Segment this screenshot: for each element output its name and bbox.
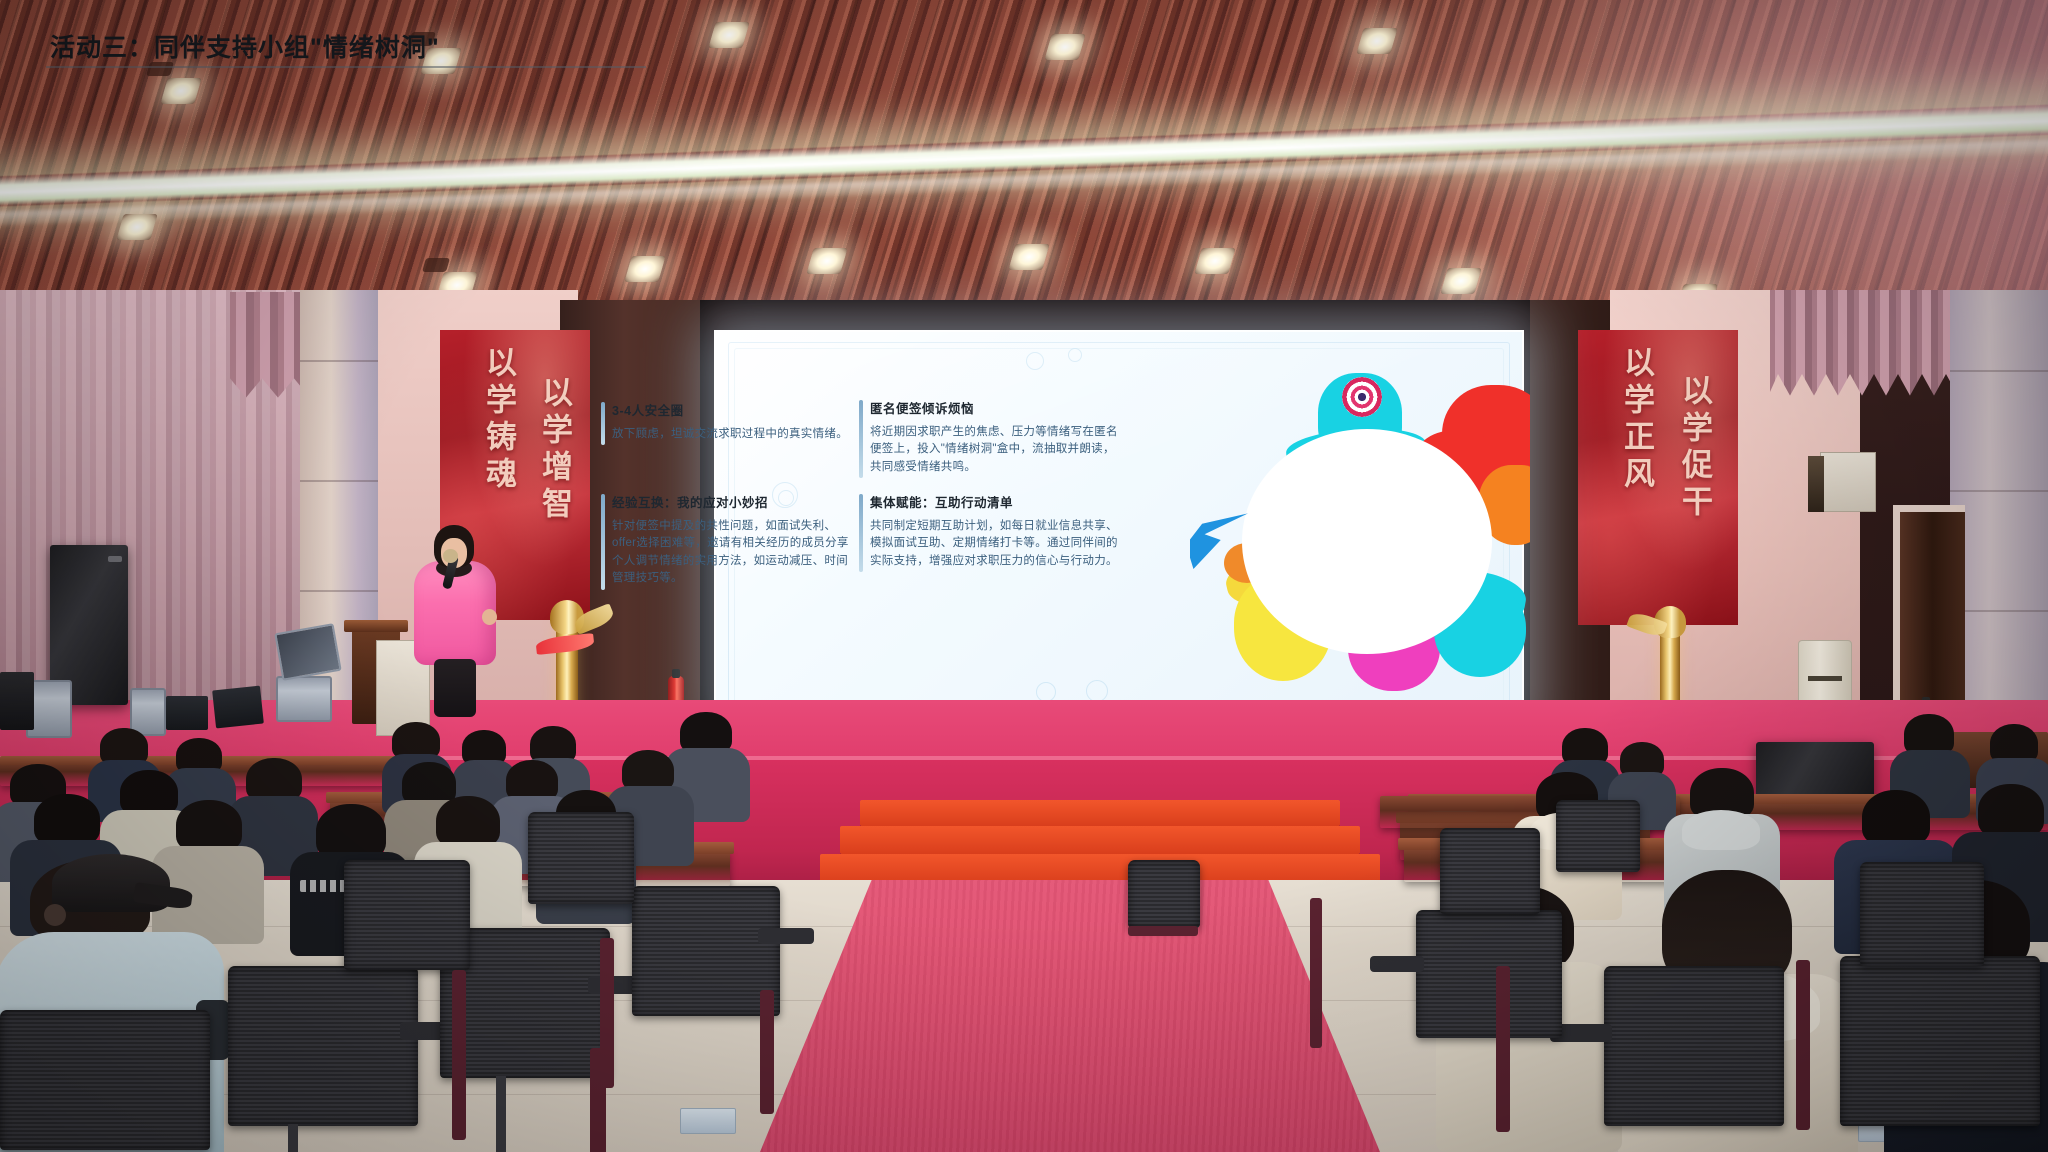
ac-vent-line	[1808, 676, 1842, 681]
wall-mounted-control-box	[1820, 452, 1876, 512]
white-center-oval	[1242, 429, 1492, 654]
left-banner-line2: 以学增智	[532, 376, 577, 524]
auditorium-scene: 以学铸魂 以学增智 以学正风 以学促干 活动三：同伴支持小组"情绪树洞" 3-4…	[0, 0, 2048, 1152]
block-body: 将近期因求职产生的焦虑、压力等情绪写在匿名便签上，投入"情绪树洞"盒中，流抽取并…	[870, 424, 1120, 476]
stage-stair-step	[840, 826, 1360, 854]
slide-block-3: 经验互换：我的应对小妙招 针对便签中提及的共性问题，如面试失利、offer选择困…	[612, 492, 857, 588]
block-accent-bar	[859, 400, 863, 478]
chair-frame-leg	[1496, 966, 1510, 1132]
block-accent-bar	[601, 402, 605, 445]
wall-notice-plate	[1808, 456, 1824, 512]
speaker-grille-logo	[108, 556, 122, 562]
right-banner-line2: 以学促干	[1672, 374, 1717, 522]
flight-case	[130, 688, 166, 736]
presenter-legs	[434, 659, 476, 717]
slide-decor-circle	[1026, 352, 1044, 370]
slide-block-1: 3-4人安全圈 放下顾虑，坦诚交流求职过程中的真实情绪。	[612, 400, 857, 443]
chair-frame-leg	[452, 970, 466, 1140]
equipment-rack	[0, 672, 34, 730]
floor-marker-sign-left	[680, 1108, 736, 1134]
stage-stair-step	[860, 800, 1340, 826]
block-body: 放下顾虑，坦诚交流求职过程中的真实情绪。	[612, 426, 857, 443]
stage-monitor-screen	[212, 686, 264, 729]
microphone-head-icon	[443, 549, 458, 563]
right-banner-line1: 以学正风	[1614, 346, 1659, 494]
presenter	[410, 525, 500, 715]
slide-title-underline	[46, 66, 646, 68]
right-red-banner: 以学正风 以学促干	[1578, 330, 1738, 625]
block-accent-bar	[859, 494, 863, 572]
slide-decor-circle	[1068, 348, 1082, 362]
target-spiral-icon	[1342, 377, 1382, 417]
block-heading: 经验互换：我的应对小妙招	[612, 492, 857, 511]
block-heading: 匿名便签倾诉烦恼	[870, 398, 1120, 417]
ceiling-spotlight-housing	[422, 258, 450, 272]
slide-decor-circle	[1086, 680, 1108, 702]
block-body: 针对便签中提及的共性问题，如面试失利、offer选择困难等，邀请有相关经历的成员…	[612, 518, 857, 588]
block-accent-bar	[601, 494, 605, 590]
colorful-splash-graphic	[1190, 345, 1530, 717]
slide-block-4: 集体赋能：互助行动清单 共同制定短期互助计划，如每日就业信息共享、模拟面试互助、…	[870, 492, 1120, 570]
flight-case-lid	[274, 623, 341, 681]
slide-decor-circle	[1036, 682, 1056, 702]
block-heading: 3-4人安全圈	[612, 400, 857, 419]
chair-frame-leg	[1796, 960, 1810, 1130]
block-heading: 集体赋能：互助行动清单	[870, 492, 1120, 511]
side-door	[1893, 505, 1965, 710]
stage-monitor-screen	[166, 696, 208, 730]
ceiling-spotlight-housing	[146, 62, 174, 76]
hair-tie	[44, 904, 66, 926]
slide-block-2: 匿名便签倾诉烦恼 将近期因求职产生的焦虑、压力等情绪写在匿名便签上，投入"情绪树…	[870, 398, 1120, 476]
chair-frame-leg	[1310, 898, 1322, 1048]
left-banner-line1: 以学铸魂	[476, 346, 521, 494]
slide-title: 活动三：同伴支持小组"情绪树洞"	[50, 28, 440, 64]
block-body: 共同制定短期互助计划，如每日就业信息共享、模拟面试互助、定期情绪打卡等。通过同伴…	[870, 518, 1120, 570]
lectern-top	[344, 620, 408, 632]
presenter-hand	[482, 609, 497, 625]
chair-frame-leg	[600, 938, 614, 1088]
stage-monitor-speaker	[1756, 742, 1874, 802]
flight-case-open	[276, 676, 332, 722]
